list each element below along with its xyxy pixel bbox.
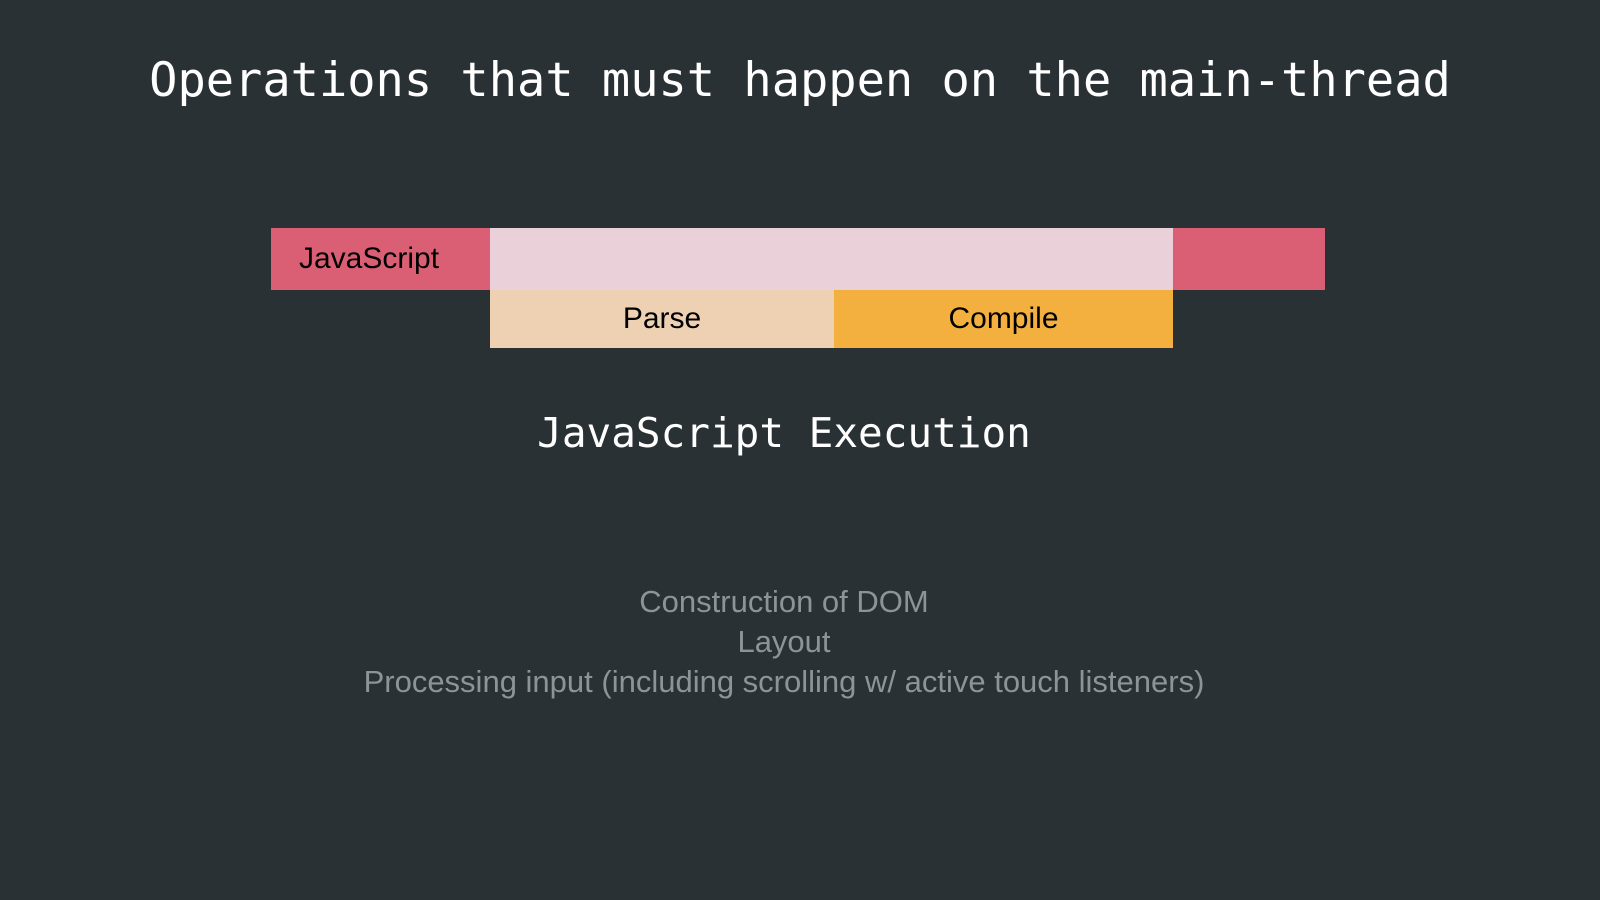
bar-segment-javascript-label: JavaScript	[299, 242, 439, 276]
bar-segment-parse-label: Parse	[623, 302, 701, 336]
note-line: Construction of DOM	[0, 582, 1568, 622]
bar-segment-parse: Parse	[490, 290, 834, 348]
bar-segment-javascript-body	[490, 228, 1173, 290]
bar-segment-javascript: JavaScript	[271, 228, 490, 290]
main-thread-notes-list: Construction of DOM Layout Processing in…	[0, 582, 1568, 702]
diagram-caption: JavaScript Execution	[0, 409, 1568, 458]
slide-canvas: Operations that must happen on the main-…	[0, 0, 1600, 900]
javascript-bar-row: JavaScript	[271, 228, 1325, 290]
main-thread-bar-diagram: JavaScript Parse Compile	[271, 228, 1325, 348]
note-line: Layout	[0, 622, 1568, 662]
bar-segment-compile: Compile	[834, 290, 1173, 348]
note-line: Processing input (including scrolling w/…	[0, 662, 1568, 702]
bar-segment-javascript-tail	[1173, 228, 1325, 290]
parse-compile-bar-row: Parse Compile	[490, 290, 1173, 348]
page-title: Operations that must happen on the main-…	[0, 55, 1600, 107]
bar-segment-compile-label: Compile	[948, 302, 1058, 336]
